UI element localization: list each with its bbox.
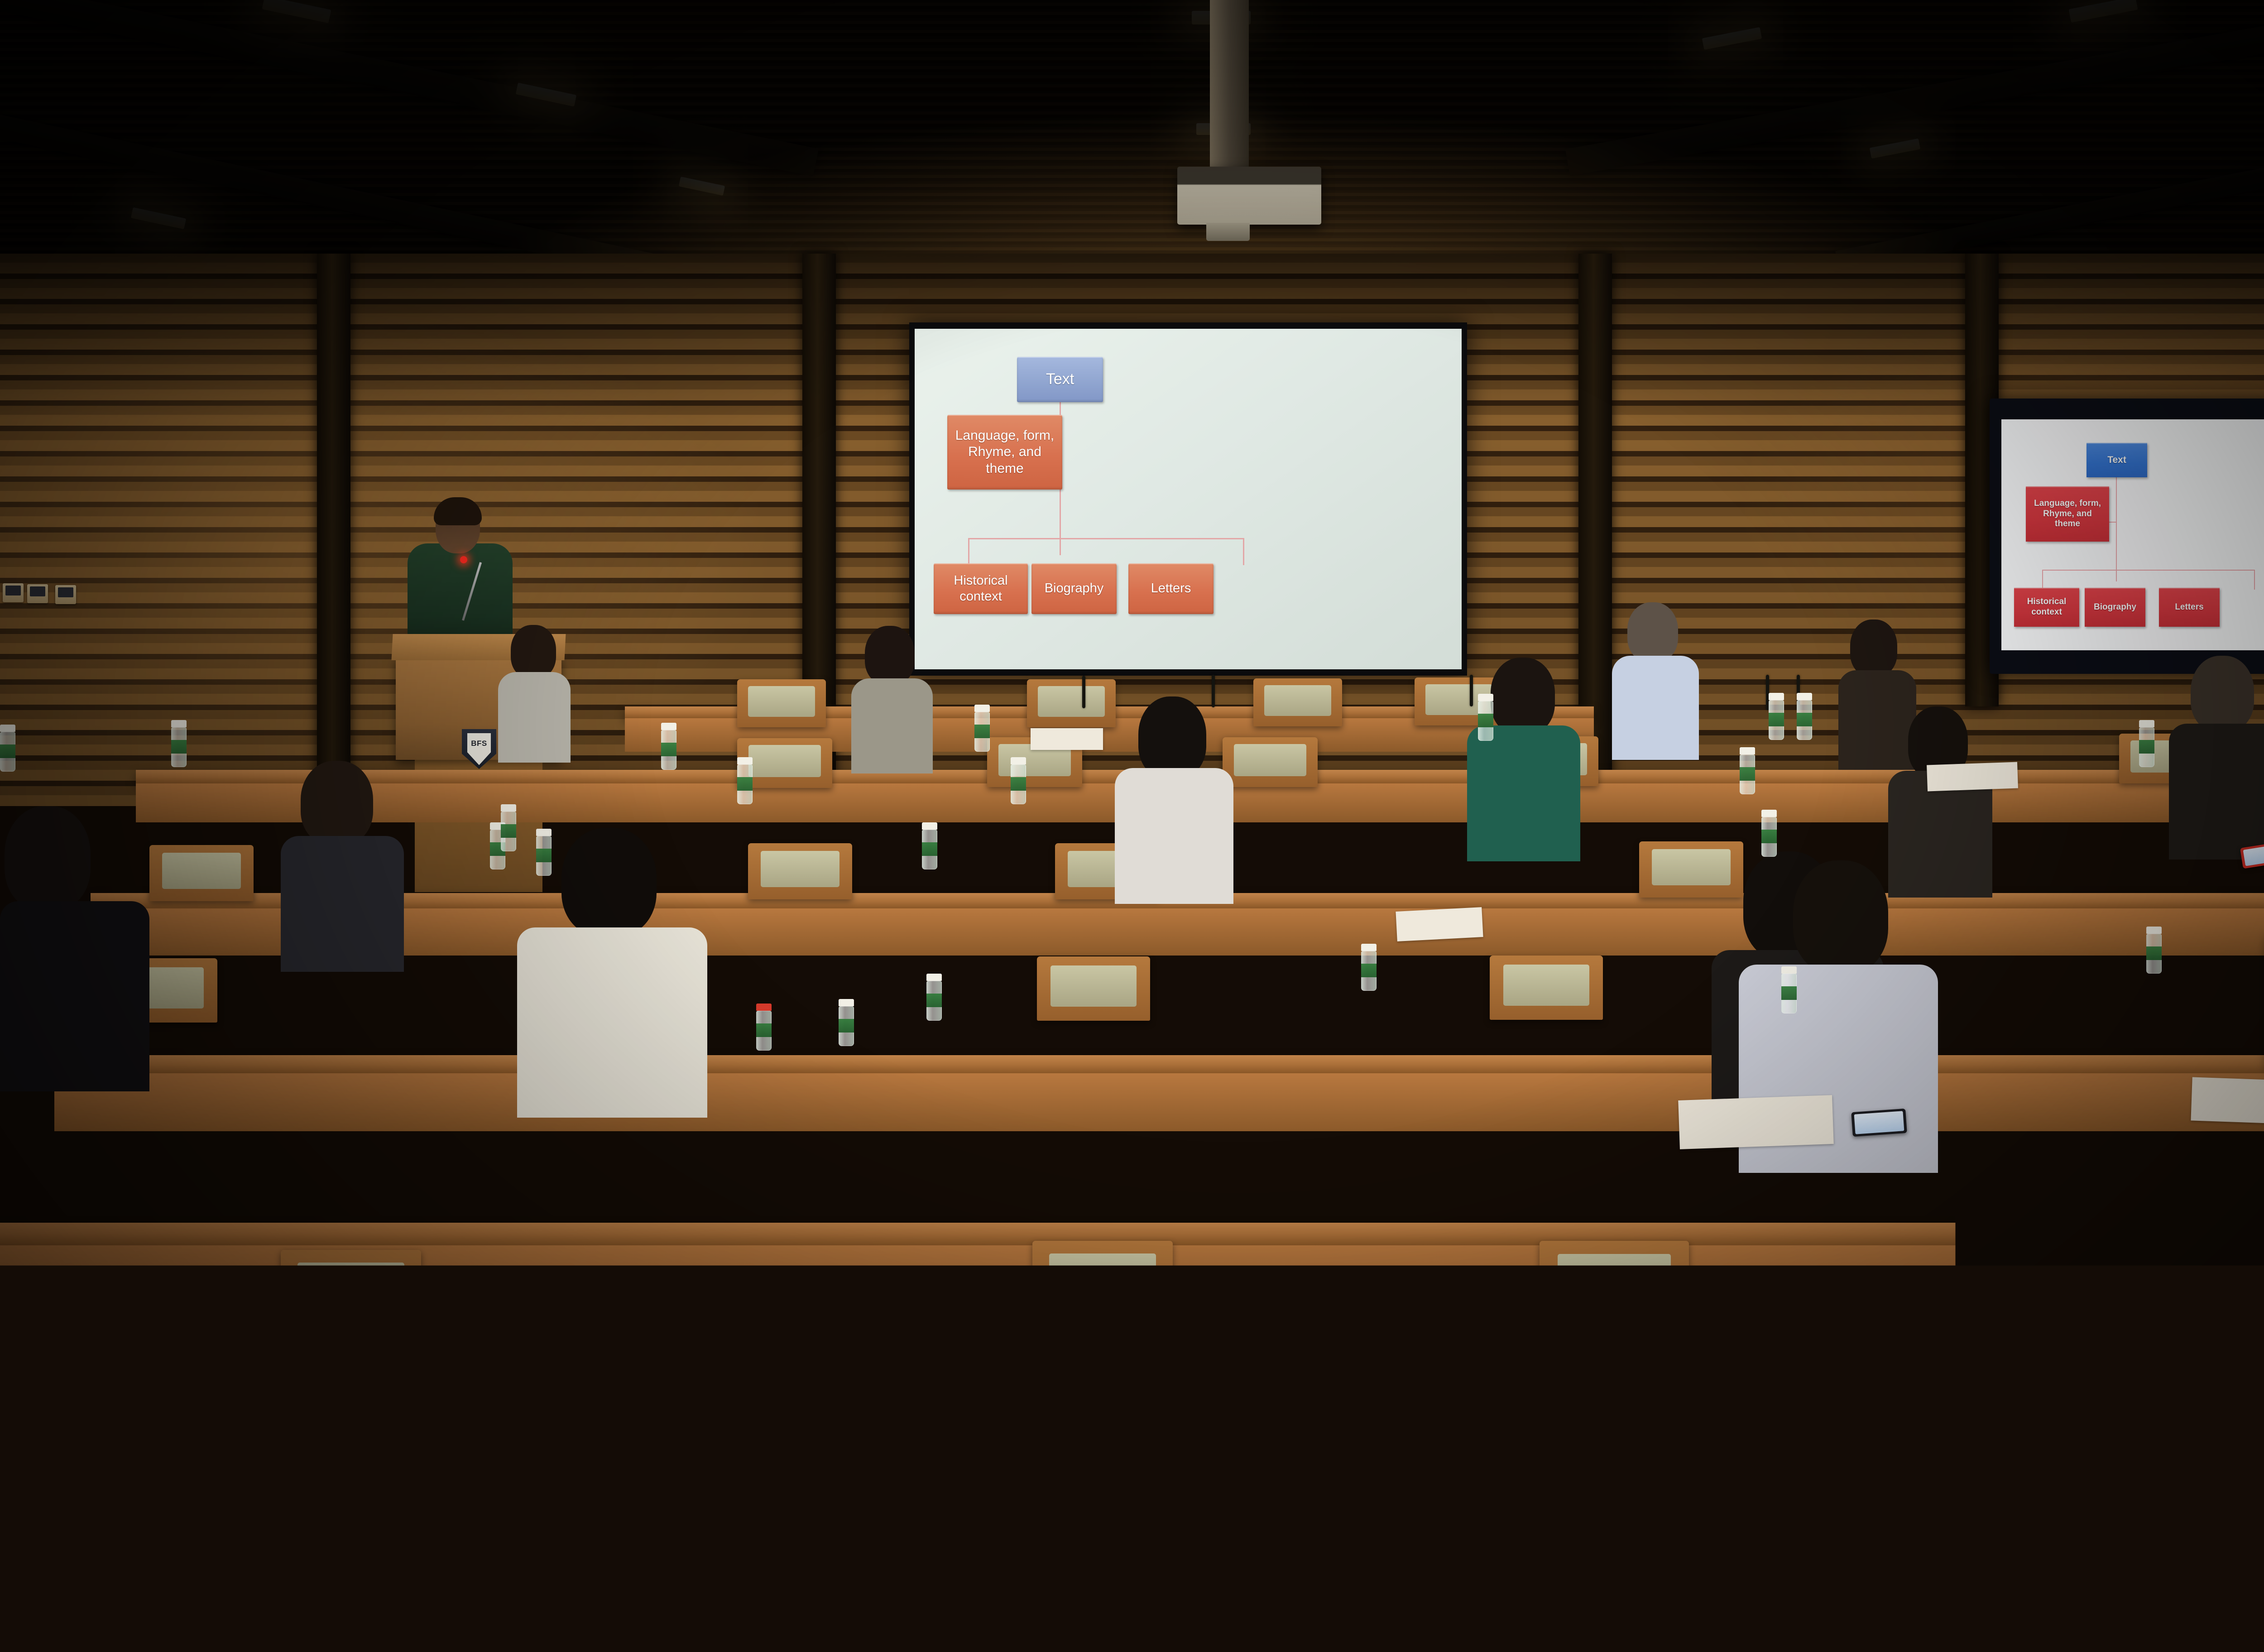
desk-face-3 — [91, 908, 2264, 956]
monitor-node-text-label: Text — [2107, 454, 2126, 466]
person-head — [301, 761, 373, 845]
person-head — [865, 626, 915, 685]
chair[interactable] — [1870, 1309, 2024, 1503]
chair[interactable] — [1490, 956, 1603, 1020]
person-head — [1138, 696, 1206, 779]
person-head — [1793, 860, 1888, 974]
water-bottle[interactable] — [1011, 757, 1026, 804]
water-bottle redcap[interactable] — [756, 1004, 772, 1051]
paper-sheet[interactable] — [1031, 728, 1103, 750]
person-torso — [517, 927, 707, 1118]
microphone-led-indicator — [460, 556, 467, 563]
slide-node-text: Text — [1017, 357, 1103, 402]
chair[interactable] — [1027, 679, 1116, 727]
ceiling-projector — [1177, 167, 1321, 225]
monitor-node-letters: Letters — [2159, 588, 2220, 627]
slide-node-language-form-rhyme-theme: Language, form, Rhyme, and theme — [947, 415, 1062, 490]
water-bottle[interactable] — [1740, 747, 1755, 794]
water-bottle[interactable] — [501, 804, 516, 851]
person-head — [511, 625, 556, 678]
water-bottle[interactable] — [0, 725, 15, 772]
water-bottle[interactable] — [2146, 927, 2162, 974]
person-torso — [498, 672, 571, 763]
water-bottle[interactable] — [1478, 694, 1493, 741]
monitor-node-language-form-rhyme-theme: Language, form, Rhyme, and theme — [2026, 486, 2109, 542]
m-connector-drop-child3 — [2254, 570, 2255, 590]
desk-microphone[interactable] — [1212, 675, 1215, 707]
chair[interactable] — [1540, 1241, 1689, 1336]
desk-row-6 — [0, 1508, 2264, 1535]
chair[interactable] — [317, 1300, 471, 1503]
wall-outlet-plate[interactable] — [3, 583, 24, 602]
paper-sheet[interactable] — [1927, 762, 2018, 792]
projected-slide: Text Language, form, Rhyme, and theme Hi… — [915, 329, 1462, 669]
projector-lens — [1206, 223, 1250, 241]
monitor-node-branch1-label: Language, form, Rhyme, and theme — [2029, 499, 2106, 529]
chair[interactable] — [737, 679, 826, 727]
m-connector-root-vertical — [2116, 477, 2117, 581]
water-bottle[interactable] — [839, 999, 854, 1046]
water-bottle[interactable] — [1361, 944, 1377, 991]
projection-screen-frame: Text Language, form, Rhyme, and theme Hi… — [909, 322, 1467, 676]
chair[interactable] — [748, 843, 852, 899]
smartphone[interactable] — [1851, 1109, 1907, 1137]
water-bottle[interactable] — [661, 723, 676, 770]
monitor-node-text: Text — [2087, 443, 2147, 477]
water-bottle[interactable] — [926, 974, 942, 1021]
slide-node-child2-label: Biography — [1045, 581, 1104, 596]
m-connector-drop-child1 — [2042, 570, 2043, 590]
desk-face-6 — [0, 1535, 2264, 1652]
slide-node-text-label: Text — [1046, 370, 1074, 389]
slatted-wood-ceiling — [0, 0, 2264, 290]
projector-mount-bracket — [1210, 0, 1249, 172]
connector-drop-child3 — [1243, 538, 1244, 565]
water-bottle[interactable] — [1761, 810, 1777, 857]
monitor-node-child3-label: Letters — [2175, 602, 2203, 613]
wall-outlet-plate[interactable] — [55, 585, 76, 604]
person-torso — [1612, 656, 1699, 760]
water-bottle[interactable] — [536, 829, 552, 876]
chair[interactable] — [1223, 737, 1318, 787]
desk-microphone[interactable] — [1470, 675, 1473, 706]
slide-node-biography: Biography — [1031, 563, 1117, 614]
slide-node-branch1-label: Language, form, Rhyme, and theme — [953, 427, 1057, 477]
connector-horizontal-bar — [968, 538, 1244, 539]
person-head — [5, 806, 91, 910]
chair[interactable] — [1639, 841, 1743, 898]
person-head — [1850, 619, 1897, 677]
connector-drop-child1 — [968, 538, 969, 565]
lecture-hall-photo: Text Language, form, Rhyme, and theme Hi… — [0, 0, 2264, 1652]
paper-sheet[interactable] — [2191, 1077, 2264, 1125]
paper-sheet[interactable] — [1678, 1095, 1834, 1149]
monitor-node-child1-label: Historical context — [2017, 597, 2077, 618]
person-head — [561, 828, 657, 936]
chair[interactable] — [1041, 1295, 1200, 1503]
side-monitor-slide: Text Language, form, Rhyme, and theme Hi… — [2001, 419, 2264, 650]
monitor-node-historical-context: Historical context — [2014, 588, 2079, 627]
water-bottle[interactable] — [2139, 720, 2154, 767]
water-bottle[interactable] — [1769, 693, 1784, 740]
person-torso — [1467, 725, 1580, 861]
water-bottle[interactable] — [737, 757, 753, 804]
desk-microphone[interactable] — [1082, 676, 1085, 708]
water-bottle[interactable] — [171, 720, 187, 767]
wall-pillar — [317, 254, 350, 811]
person-torso — [851, 678, 933, 773]
side-monitor: Text Language, form, Rhyme, and theme Hi… — [1990, 399, 2264, 674]
water-bottle[interactable] — [1781, 966, 1797, 1013]
person-head — [1491, 658, 1555, 735]
person-torso — [0, 901, 149, 1091]
person-torso — [281, 836, 404, 972]
chair[interactable] — [149, 845, 254, 901]
monitor-node-child2-label: Biography — [2094, 602, 2136, 613]
person-head — [2191, 656, 2254, 732]
slide-node-letters: Letters — [1128, 563, 1214, 614]
chair[interactable] — [1253, 678, 1342, 726]
wall-outlet-plate[interactable] — [27, 584, 48, 603]
slide-node-child1-label: Historical context — [938, 573, 1023, 605]
water-bottle[interactable] — [1797, 693, 1812, 740]
slide-node-child3-label: Letters — [1151, 581, 1191, 596]
person-torso — [2169, 724, 2264, 860]
monitor-node-biography: Biography — [2085, 588, 2145, 627]
person-head — [1627, 602, 1678, 662]
person-torso — [1115, 768, 1233, 904]
paper-sheet[interactable] — [1396, 907, 1483, 941]
person-torso — [1838, 670, 1916, 770]
slide-node-historical-context: Historical context — [934, 563, 1028, 614]
water-bottle[interactable] — [974, 705, 990, 752]
chair[interactable] — [1037, 956, 1150, 1021]
water-bottle[interactable] — [922, 822, 937, 869]
m-connector-horizontal-bar — [2042, 570, 2255, 571]
emblem-letters: BFS — [467, 733, 491, 765]
ceiling-shadow — [0, 0, 2264, 290]
